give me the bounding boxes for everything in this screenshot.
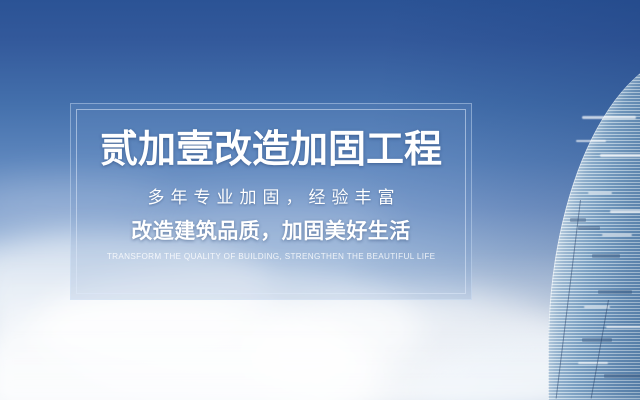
tagline-english: TRANSFORM THE QUALITY OF BUILDING, STREN… xyxy=(107,252,436,261)
tagline-primary: 多年专业加固，经验丰富 xyxy=(142,189,401,206)
skyscraper xyxy=(548,50,640,400)
tagline-secondary: 改造建筑品质，加固美好生活 xyxy=(131,221,411,242)
hero-banner: 贰加壹改造加固工程 多年专业加固，经验丰富 改造建筑品质，加固美好生活 TRAN… xyxy=(0,0,640,400)
skyscraper-glass-streak xyxy=(600,154,640,157)
page-title: 贰加壹改造加固工程 xyxy=(100,131,442,169)
headline-panel: 贰加壹改造加固工程 多年专业加固，经验丰富 改造建筑品质，加固美好生活 TRAN… xyxy=(70,103,472,300)
skyscraper-window-band xyxy=(598,290,632,294)
skyscraper-window-band xyxy=(592,254,620,258)
panel-content: 贰加壹改造加固工程 多年专业加固，经验丰富 改造建筑品质，加固美好生活 TRAN… xyxy=(71,104,471,299)
skyscraper-window-band xyxy=(582,338,612,342)
skyscraper-glass-streak xyxy=(578,362,608,364)
skyscraper-glass-streak xyxy=(588,192,612,194)
skyscraper-glass-streak xyxy=(602,234,632,236)
skyscraper-glass-streak xyxy=(582,116,636,119)
skyscraper-glass-streak xyxy=(606,326,640,328)
skyscraper-glass-streak xyxy=(576,140,606,142)
skyscraper-window-band xyxy=(578,226,600,230)
skyscraper-glass-streak xyxy=(610,210,640,213)
skyscraper-window-band xyxy=(604,374,640,378)
